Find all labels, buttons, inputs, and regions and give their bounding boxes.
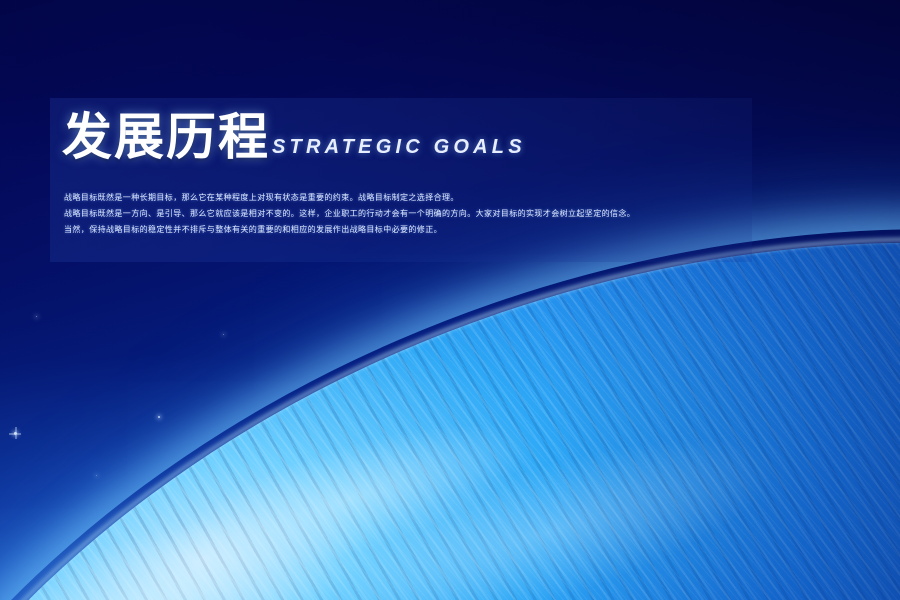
star-upper-left-icon bbox=[36, 316, 37, 317]
body-line: 战略目标既然是一方向、是引导、那么它就应该是相对不变的。这样，企业职工的行动才会… bbox=[64, 206, 864, 222]
body-line: 当然，保持战略目标的稳定性并不排斥与整体有关的重要的和相应的发展作出战略目标中必… bbox=[64, 222, 864, 238]
page-subtitle: STRATEGIC GOALS bbox=[272, 136, 526, 162]
body-line: 战略目标既然是一种长期目标，那么它在某种程度上对现有状态是重要的约束。战略目标制… bbox=[64, 190, 864, 206]
star-center-icon bbox=[223, 334, 224, 335]
page-title: 发展历程 bbox=[62, 112, 270, 162]
star-left-bright-icon bbox=[14, 432, 17, 435]
banner-headline: 发展历程 STRATEGIC GOALS bbox=[62, 112, 526, 162]
banner-body-copy: 战略目标既然是一种长期目标，那么它在某种程度上对现有状态是重要的约束。战略目标制… bbox=[64, 190, 864, 238]
banner-stage: 发展历程 STRATEGIC GOALS 战略目标既然是一种长期目标，那么它在某… bbox=[0, 0, 900, 600]
